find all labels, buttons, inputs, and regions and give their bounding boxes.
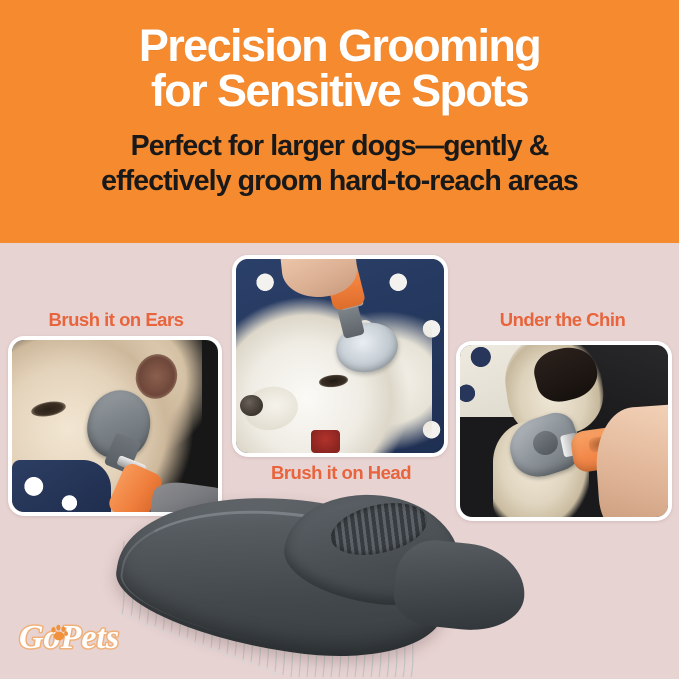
caption-under-the-chin: Under the Chin bbox=[455, 309, 670, 331]
photo-card-head bbox=[232, 255, 448, 457]
caption-brush-on-head: Brush it on Head bbox=[228, 462, 454, 484]
product-marketing-poster: Precision Grooming for Sensitive Spots P… bbox=[0, 0, 679, 679]
photo-chin bbox=[460, 345, 668, 517]
svg-text:GoPets: GoPets bbox=[19, 619, 119, 656]
photo-ears bbox=[12, 340, 218, 512]
photo-card-chin bbox=[456, 341, 672, 521]
page-title: Precision Grooming for Sensitive Spots bbox=[24, 16, 655, 113]
header-banner: Precision Grooming for Sensitive Spots P… bbox=[0, 0, 679, 243]
headline-line-2: for Sensitive Spots bbox=[24, 69, 655, 114]
subhead-line-2: effectively groom hard-to-reach areas bbox=[24, 164, 655, 199]
subhead-line-1: Perfect for larger dogs—gently & bbox=[131, 130, 549, 162]
page-subtitle: Perfect for larger dogs—gently & effecti… bbox=[24, 113, 655, 199]
headline-line-1: Precision Grooming bbox=[139, 20, 540, 71]
photo-card-ears bbox=[8, 336, 222, 516]
caption-brush-on-ears: Brush it on Ears bbox=[12, 309, 220, 331]
brand-logo-gopets: GoPets GoPets bbox=[16, 608, 140, 664]
photo-head bbox=[236, 259, 444, 453]
